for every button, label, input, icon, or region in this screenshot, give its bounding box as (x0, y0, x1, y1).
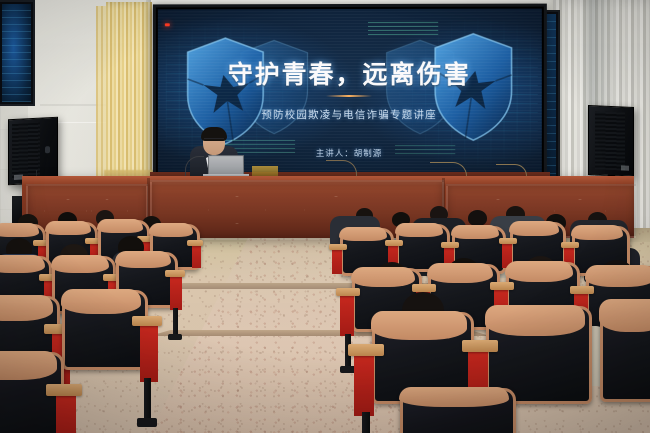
left-side-monitor-screen (2, 4, 31, 102)
name-plate (252, 166, 278, 176)
right-speaker-grille (595, 111, 625, 170)
auditorium-seat[interactable] (600, 300, 650, 396)
auditorium-seat[interactable] (0, 352, 58, 433)
audience-head (468, 210, 487, 226)
left-speaker-port (45, 146, 50, 153)
auditorium-seat[interactable] (486, 306, 586, 398)
right-speaker-logo (621, 165, 629, 170)
yellow-curtain (106, 2, 152, 188)
lecture-hall-photo: 守护青春，远离伤害 预防校园欺凌与电信诈骗专题讲座 主讲人：胡制源 (0, 0, 650, 433)
right-loudspeaker (588, 105, 634, 177)
diamond-motif-icon (208, 196, 266, 224)
microphone-icon (430, 162, 467, 177)
power-indicator-icon (165, 23, 170, 26)
left-side-monitor (0, 0, 35, 106)
glasses-icon (204, 138, 224, 143)
auditorium-seat[interactable] (396, 224, 444, 266)
auditorium-seat[interactable] (62, 290, 142, 364)
auditorium-seat[interactable] (372, 312, 468, 398)
auditorium-seat[interactable] (340, 228, 388, 270)
auditorium-seat[interactable] (400, 388, 510, 433)
